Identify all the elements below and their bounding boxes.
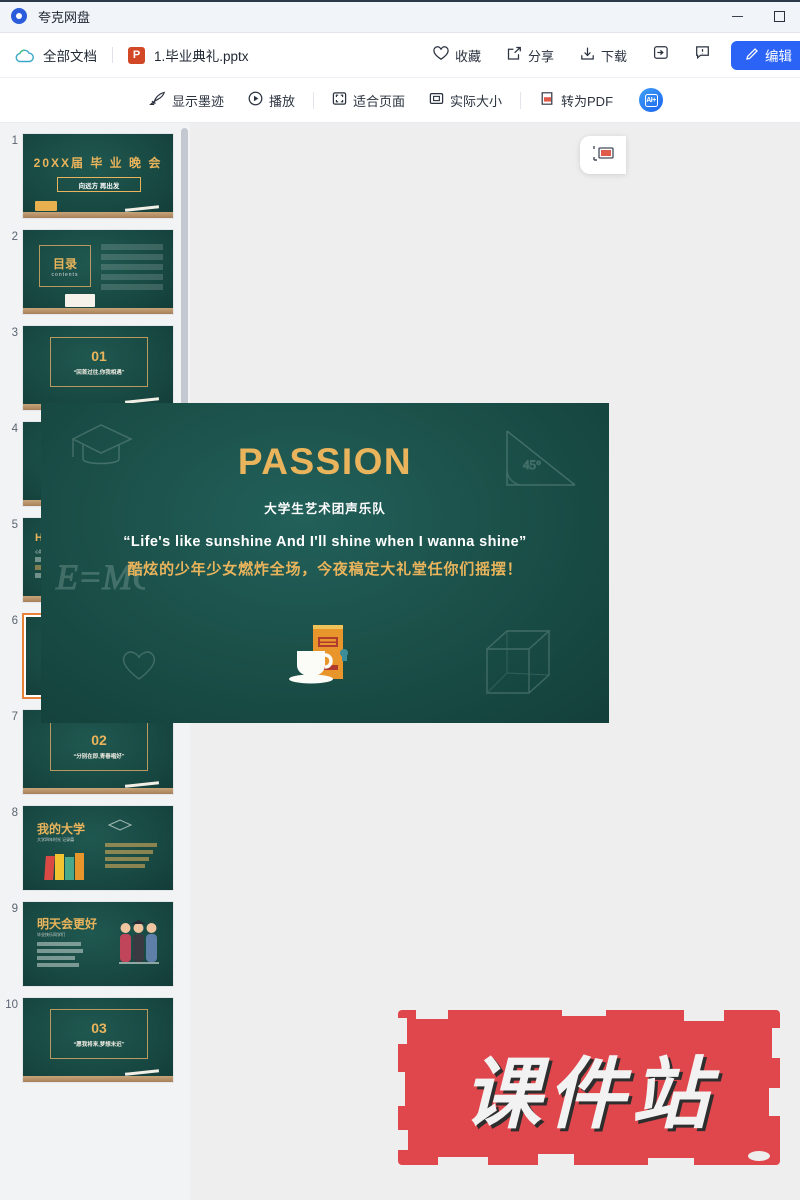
view-toolbar: 显示墨迹 播放 适合页面 实际大小 [0, 78, 800, 123]
slide-subtitle: 大学生艺术团声乐队 [41, 498, 609, 517]
slide-preview: 明天会更好 毕业快乐同学们 [23, 902, 173, 986]
book-and-coffee-cup-icon [285, 621, 365, 691]
text-line [105, 857, 149, 861]
divider [520, 92, 521, 109]
thumbnail-frame[interactable]: 明天会更好 毕业快乐同学们 [22, 901, 174, 987]
books-art [35, 201, 57, 211]
slide-preview: 01 “回首过往,你我相遇” [23, 326, 173, 410]
thumbnail-number: 5 [0, 517, 18, 531]
thumbnail-subtitle: “分别在即,青春唱好” [73, 752, 124, 760]
text-line [37, 963, 79, 967]
cube-chalk-icon [477, 623, 569, 709]
minimize-icon [732, 16, 743, 17]
thumbnail-subtitle: 大学四年时光 记录篇 [37, 837, 74, 843]
book-art [75, 853, 84, 880]
heart-icon [433, 46, 449, 64]
download-label: 下载 [601, 46, 627, 65]
fit-page-icon [332, 91, 347, 109]
chalk-art [125, 1069, 159, 1076]
ai-assistant-button[interactable]: AI+ [639, 88, 663, 112]
board-ledge [23, 1076, 173, 1082]
text-line [37, 949, 83, 953]
favorite-label: 收藏 [455, 46, 481, 65]
thumbnail-item-8[interactable]: 8 我的大学 大学四年时光 记录篇 [0, 795, 190, 891]
thumbnail-number: 4 [0, 421, 18, 435]
maximize-icon [774, 11, 785, 22]
thumbnail-title: 20XX届 毕 业 晚 会 [23, 154, 173, 171]
thumbnail-title: 目录 [53, 255, 77, 272]
actual-size-label: 实际大小 [450, 91, 502, 110]
download-icon [580, 46, 595, 64]
actual-size-icon [429, 91, 444, 109]
thumbnail-number: 6 [0, 613, 18, 627]
fit-page-label: 适合页面 [353, 91, 405, 110]
thumbnail-number: 8 [0, 805, 18, 819]
divider [112, 47, 113, 63]
thumbnail-item-9[interactable]: 9 明天会更好 毕业快乐同学们 [0, 891, 190, 987]
feedback-button[interactable] [682, 33, 723, 77]
books-art [65, 294, 95, 307]
thumbnail-subtitle: contents [52, 272, 79, 278]
site-watermark: 课件站 [398, 1010, 780, 1165]
thumbnail-title: 我的大学 [37, 820, 85, 837]
list-item [101, 284, 163, 290]
thumbnail-frame[interactable]: 01 “回首过往,你我相遇” [22, 325, 174, 411]
actual-size-button[interactable]: 实际大小 [417, 91, 514, 110]
thumbnail-subtitle: “愿我将来,梦想未迟” [73, 1040, 124, 1048]
convert-to-pdf-button[interactable]: 转为PDF [527, 91, 625, 110]
cloud-icon[interactable] [14, 48, 34, 63]
grad-cap-chalk [107, 818, 133, 834]
thumbnail-item-2[interactable]: 2 目录 contents [0, 219, 190, 315]
thumbnail-subtitle: “回首过往,你我相遇” [73, 368, 124, 376]
book-art [65, 857, 74, 880]
pencil-icon [745, 47, 759, 64]
presentation-export-icon [592, 143, 614, 168]
thumbnail-number: 9 [0, 901, 18, 915]
edit-button[interactable]: 编辑 [731, 41, 800, 70]
thumbnail-title: 03 [91, 1020, 107, 1036]
text-line [105, 843, 157, 847]
play-button[interactable]: 播放 [236, 91, 307, 110]
share-label: 分享 [528, 46, 554, 65]
window-controls [716, 0, 800, 32]
thumbnail-item-3[interactable]: 3 01 “回首过往,你我相遇” [0, 315, 190, 411]
file-bar: 全部文档 P 1.毕业典礼.pptx 收藏 分享 [0, 33, 800, 78]
feedback-icon [695, 45, 710, 65]
convert-pdf-label: 转为PDF [561, 91, 613, 110]
filename-label: 1.毕业典礼.pptx [154, 45, 249, 65]
chalk-art [125, 781, 159, 788]
download-button[interactable]: 下载 [567, 33, 640, 77]
list-item [101, 254, 163, 260]
edit-label: 编辑 [765, 45, 792, 65]
pdf-icon [539, 91, 555, 109]
thumbnail-subtitle: 向远方 再出发 [57, 177, 141, 192]
slide-preview: 20XX届 毕 业 晚 会 向远方 再出发 [23, 134, 173, 218]
text-line [105, 850, 153, 854]
play-icon [248, 91, 263, 109]
thumbnail-number: 7 [0, 709, 18, 723]
show-ink-button[interactable]: 显示墨迹 [137, 91, 236, 110]
slide-preview: 03 “愿我将来,梦想未迟” [23, 998, 173, 1082]
book-art [44, 856, 55, 880]
contents-box: 目录 contents [39, 245, 91, 287]
thumbnail-frame[interactable]: 20XX届 毕 业 晚 会 向远方 再出发 [22, 133, 174, 219]
thumbnail-title: 01 [91, 348, 107, 364]
thumbnail-number: 2 [0, 229, 18, 243]
thumbnail-frame[interactable]: 我的大学 大学四年时光 记录篇 [22, 805, 174, 891]
minimize-button[interactable] [716, 0, 758, 32]
slide-quote-chinese: 酷炫的少年少女燃炸全场，今夜稿定大礼堂任你们摇摆！ [41, 558, 609, 579]
text-line [37, 942, 81, 946]
text-line [37, 956, 75, 960]
graduates-art [117, 918, 161, 976]
share-button[interactable]: 分享 [494, 33, 567, 77]
thumbnail-frame[interactable]: 目录 contents [22, 229, 174, 315]
list-item [101, 244, 163, 250]
file-actions: 收藏 分享 下载 [420, 33, 800, 77]
board-ledge [23, 212, 173, 218]
save-to-cloud-icon [653, 45, 669, 65]
play-label: 播放 [269, 91, 295, 110]
share-icon [507, 46, 522, 64]
thumbnail-subtitle: 毕业快乐同学们 [37, 932, 65, 938]
thumbnail-title: 02 [91, 732, 107, 748]
section-box: 03 “愿我将来,梦想未迟” [50, 1009, 148, 1059]
save-to-cloud-button[interactable] [640, 33, 682, 77]
book-art [55, 854, 64, 880]
section-box: 01 “回首过往,你我相遇” [50, 337, 148, 387]
chalk-art [125, 205, 159, 212]
maximize-button[interactable] [758, 0, 800, 32]
app-title: 夸克网盘 [38, 7, 90, 26]
contents-list [101, 244, 163, 290]
divider [313, 92, 314, 109]
thumbnail-number: 10 [0, 997, 18, 1011]
board-ledge [23, 308, 173, 314]
thumbnail-number: 3 [0, 325, 18, 339]
text-line [105, 864, 145, 868]
powerpoint-file-icon: P [128, 47, 145, 64]
slide-title: PASSION [41, 441, 609, 483]
thumbnail-number: 1 [0, 133, 18, 147]
window-title-bar: 夸克网盘 [0, 0, 800, 33]
active-slide[interactable]: E=MC2 45° PASSION 大学生艺术团声乐队 “Life's like… [41, 403, 609, 723]
ink-pen-icon [149, 91, 166, 109]
slide-quote-english: “Life's like sunshine And I'll shine whe… [41, 534, 609, 550]
fit-page-button[interactable]: 适合页面 [320, 91, 417, 110]
list-item [101, 264, 163, 270]
slide-preview: 我的大学 大学四年时光 记录篇 [23, 806, 173, 890]
favorite-button[interactable]: 收藏 [420, 33, 494, 77]
thumbnail-item-1[interactable]: 1 20XX届 毕 业 晚 会 向远方 再出发 [0, 123, 190, 219]
show-ink-label: 显示墨迹 [172, 91, 224, 110]
ai-plus-icon: AI+ [645, 94, 658, 107]
quark-circle-logo-icon [11, 8, 27, 24]
list-item [101, 274, 163, 280]
presentation-export-button[interactable] [580, 136, 626, 174]
thumbnail-frame[interactable]: 03 “愿我将来,梦想未迟” [22, 997, 174, 1083]
all-documents-link[interactable]: 全部文档 [43, 45, 97, 65]
section-box: 02 “分别在即,青春唱好” [50, 721, 148, 771]
watermark-text: 课件站 [398, 1010, 780, 1165]
slide-preview: 目录 contents [23, 230, 173, 314]
title-bar-top-accent [0, 0, 800, 2]
heart-chalk-icon [119, 647, 159, 683]
thumbnail-item-10[interactable]: 10 03 “愿我将来,梦想未迟” [0, 987, 190, 1083]
board-ledge [23, 788, 173, 794]
thumbnail-title: 明天会更好 [37, 915, 97, 932]
